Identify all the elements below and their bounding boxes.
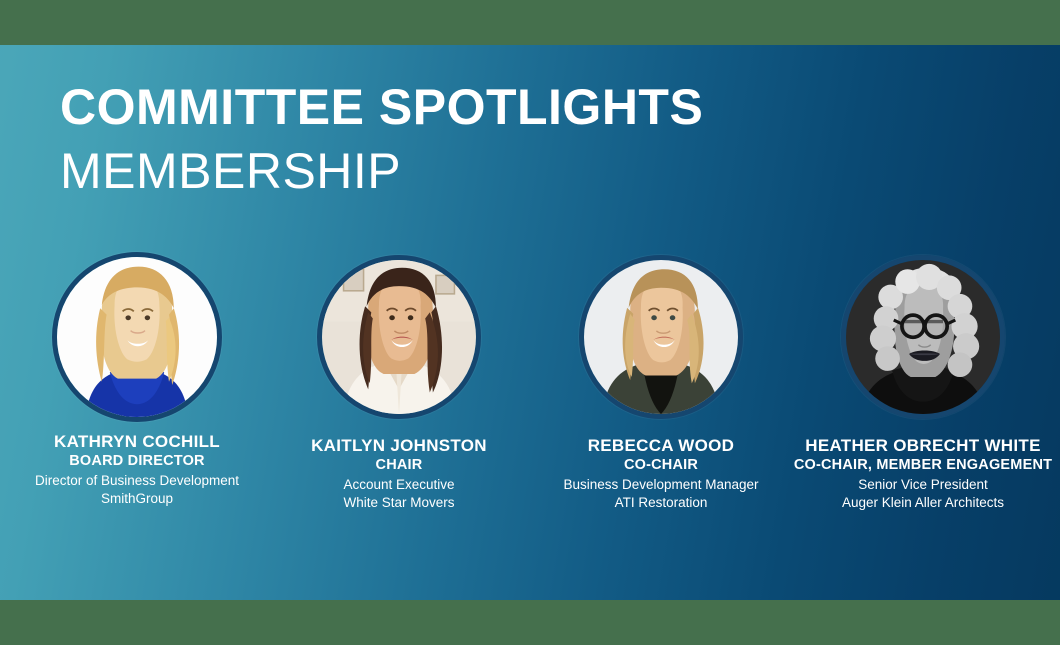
avatar (841, 255, 1005, 419)
person-card: KAITLYN JOHNSTON CHAIR Account Executive… (268, 252, 530, 511)
person-card: KATHRYN COCHILL BOARD DIRECTOR Director … (6, 252, 268, 507)
person-name: HEATHER OBRECHT WHITE (794, 436, 1052, 456)
portrait-blonde-blue-top-icon (57, 257, 217, 417)
top-green-band (0, 0, 1060, 45)
bottom-green-band (0, 600, 1060, 645)
page-title: COMMITTEE SPOTLIGHTS MEMBERSHIP (60, 82, 703, 196)
avatar (52, 252, 222, 422)
portrait-brunette-white-blouse-icon (322, 260, 476, 414)
person-role: CO-CHAIR, MEMBER ENGAGEMENT (794, 456, 1052, 474)
person-title: Director of Business Development (35, 472, 239, 490)
avatar (579, 255, 743, 419)
person-name: REBECCA WOOD (563, 436, 758, 456)
page-title-secondary: MEMBERSHIP (60, 146, 703, 196)
person-title: Account Executive (311, 476, 487, 494)
person-company: ATI Restoration (563, 494, 758, 512)
person-company: White Star Movers (311, 494, 487, 512)
page-title-primary: COMMITTEE SPOTLIGHTS (60, 82, 703, 132)
person-title: Business Development Manager (563, 476, 758, 494)
person-card: REBECCA WOOD CO-CHAIR Business Developme… (530, 252, 792, 511)
portrait-frame (314, 252, 484, 422)
person-company: SmithGroup (35, 490, 239, 508)
person-role: BOARD DIRECTOR (35, 452, 239, 470)
avatar (317, 255, 481, 419)
person-name: KAITLYN JOHNSTON (311, 436, 487, 456)
person-role: CHAIR (311, 456, 487, 474)
committee-spotlight-slide: COMMITTEE SPOTLIGHTS MEMBERSHIP (0, 0, 1060, 645)
person-caption: HEATHER OBRECHT WHITE CO-CHAIR, MEMBER E… (794, 436, 1052, 511)
person-name: KATHRYN COCHILL (35, 432, 239, 452)
portrait-frame (52, 252, 222, 422)
person-role: CO-CHAIR (563, 456, 758, 474)
person-caption: KAITLYN JOHNSTON CHAIR Account Executive… (311, 436, 487, 511)
person-caption: REBECCA WOOD CO-CHAIR Business Developme… (563, 436, 758, 511)
people-row: KATHRYN COCHILL BOARD DIRECTOR Director … (0, 252, 1060, 511)
person-card: HEATHER OBRECHT WHITE CO-CHAIR, MEMBER E… (792, 252, 1054, 511)
portrait-frame (838, 252, 1008, 422)
portrait-frame (576, 252, 746, 422)
person-title: Senior Vice President (794, 476, 1052, 494)
portrait-curly-glasses-turtleneck-icon (846, 260, 1000, 414)
portrait-blonde-olive-blazer-icon (584, 260, 738, 414)
person-company: Auger Klein Aller Architects (794, 494, 1052, 512)
person-caption: KATHRYN COCHILL BOARD DIRECTOR Director … (35, 432, 239, 507)
